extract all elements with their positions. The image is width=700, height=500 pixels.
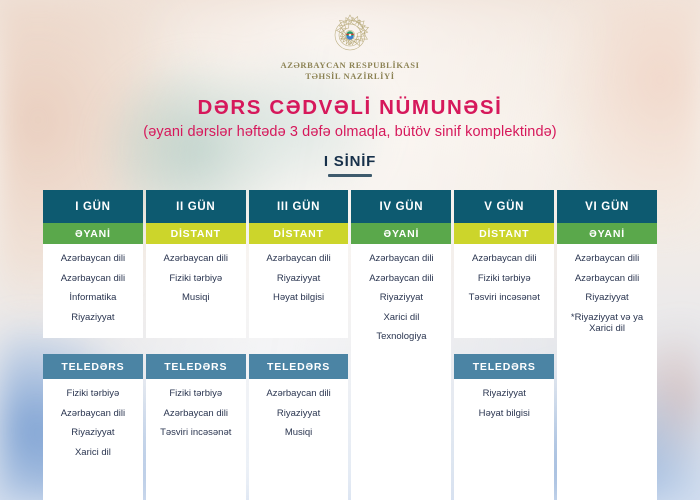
teledars-header: TELEDƏRS (249, 354, 349, 379)
lesson-item: Fiziki tərbiyə (169, 388, 222, 400)
schedule-column: III GÜNDİSTANTAzərbaycan diliRiyaziyyatH… (249, 190, 349, 500)
schedule-column: VI GÜNƏYANİAzərbaycan diliAzərbaycan dil… (557, 190, 657, 500)
teledars-header: TELEDƏRS (454, 354, 554, 379)
day-header: IV GÜN (351, 190, 451, 223)
lesson-item: Riyaziyyat (71, 312, 114, 324)
schedule-column: IV GÜNƏYANİAzərbaycan diliAzərbaycan dil… (351, 190, 451, 500)
schedule-table: I GÜNƏYANİAzərbaycan diliAzərbaycan dili… (43, 190, 657, 500)
column-body: Azərbaycan diliAzərbaycan diliRiyaziyyat… (557, 244, 657, 500)
poster-header: AZƏRBAYCAN RESPUBLİKASI TƏHSİL NAZİRLİYİ… (0, 12, 700, 177)
schedule-poster: AZƏRBAYCAN RESPUBLİKASI TƏHSİL NAZİRLİYİ… (0, 0, 700, 500)
lesson-list-teledars: Fiziki tərbiyəAzərbaycan diliTəsviri inc… (146, 379, 246, 500)
lesson-list-teledars: Azərbaycan diliRiyaziyyatMusiqi (249, 379, 349, 500)
lesson-item: Həyat bilgisi (273, 292, 324, 304)
section-gap (146, 338, 246, 354)
empty-cell (351, 352, 451, 500)
lesson-item: Xarici dil (383, 312, 419, 324)
lesson-item: Azərbaycan dili (266, 253, 330, 265)
teledars-header: TELEDƏRS (146, 354, 246, 379)
day-header: VI GÜN (557, 190, 657, 223)
lesson-item: Azərbaycan dili (575, 253, 639, 265)
column-body: Azərbaycan diliAzərbaycan diliİnformatik… (43, 244, 143, 500)
lesson-item: Riyaziyyat (71, 427, 114, 439)
mode-badge: DİSTANT (146, 223, 246, 244)
lesson-item: Riyaziyyat (483, 388, 526, 400)
day-header: I GÜN (43, 190, 143, 223)
column-body: Azərbaycan diliFiziki tərbiyəMusiqiTELED… (146, 244, 246, 500)
mode-badge: ƏYANİ (557, 223, 657, 244)
lesson-list-teledars: Fiziki tərbiyəAzərbaycan diliRiyaziyyatX… (43, 379, 143, 500)
lesson-item: Azərbaycan dili (164, 253, 228, 265)
lesson-item: Fiziki tərbiyə (169, 273, 222, 285)
ministry-line-1: AZƏRBAYCAN RESPUBLİKASI (0, 60, 700, 71)
lesson-list-primary: Azərbaycan diliFiziki tərbiyəMusiqi (146, 244, 246, 338)
section-gap (249, 338, 349, 354)
lesson-item: Riyaziyyat (277, 273, 320, 285)
schedule-column: V GÜNDİSTANTAzərbaycan diliFiziki tərbiy… (454, 190, 554, 500)
lesson-item: Təsviri incəsənət (469, 292, 540, 304)
lesson-item: Azərbaycan dili (369, 253, 433, 265)
grade-underline (328, 174, 372, 177)
section-gap (454, 338, 554, 354)
lesson-item: Musiqi (285, 427, 312, 439)
mode-badge: ƏYANİ (43, 223, 143, 244)
lesson-list-teledars: RiyaziyyatHəyat bilgisi (454, 379, 554, 500)
ministry-name: AZƏRBAYCAN RESPUBLİKASI TƏHSİL NAZİRLİYİ (0, 60, 700, 82)
lesson-list-primary: Azərbaycan diliAzərbaycan diliRiyaziyyat… (557, 244, 657, 344)
column-body: Azərbaycan diliAzərbaycan diliRiyaziyyat… (351, 244, 451, 500)
grade-block: I SİNİF (0, 153, 700, 177)
lesson-item: Azərbaycan dili (61, 253, 125, 265)
azerbaijan-education-ministry-emblem-icon (319, 12, 381, 58)
lesson-list-primary: Azərbaycan diliAzərbaycan diliİnformatik… (43, 244, 143, 338)
grade-label: I SİNİF (324, 153, 376, 170)
page-subtitle: (əyani dərslər həftədə 3 dəfə olmaqla, b… (0, 124, 700, 140)
schedule-column: I GÜNƏYANİAzərbaycan diliAzərbaycan dili… (43, 190, 143, 500)
lesson-item: Azərbaycan dili (61, 408, 125, 420)
lesson-item: Riyaziyyat (277, 408, 320, 420)
mode-badge: DİSTANT (249, 223, 349, 244)
section-gap (43, 338, 143, 354)
lesson-item: Riyaziyyat (585, 292, 628, 304)
lesson-item: Musiqi (182, 292, 209, 304)
lesson-list-primary: Azərbaycan diliRiyaziyyatHəyat bilgisi (249, 244, 349, 338)
lesson-item: Fiziki tərbiyə (67, 388, 120, 400)
lesson-item: Azərbaycan dili (164, 408, 228, 420)
lesson-list-primary: Azərbaycan diliAzərbaycan diliRiyaziyyat… (351, 244, 451, 352)
lesson-item: Xarici dil (75, 447, 111, 459)
empty-cell (557, 344, 657, 500)
day-header: II GÜN (146, 190, 246, 223)
ministry-line-2: TƏHSİL NAZİRLİYİ (0, 71, 700, 82)
lesson-item: Həyat bilgisi (479, 408, 530, 420)
day-header: III GÜN (249, 190, 349, 223)
mode-badge: DİSTANT (454, 223, 554, 244)
lesson-item: Azərbaycan dili (472, 253, 536, 265)
lesson-item: Azərbaycan dili (575, 273, 639, 285)
day-header: V GÜN (454, 190, 554, 223)
lesson-item: Azərbaycan dili (369, 273, 433, 285)
column-body: Azərbaycan diliFiziki tərbiyəTəsviri inc… (454, 244, 554, 500)
lesson-item: Riyaziyyat (380, 292, 423, 304)
mode-badge: ƏYANİ (351, 223, 451, 244)
lesson-item: Təsviri incəsənət (160, 427, 231, 439)
teledars-header: TELEDƏRS (43, 354, 143, 379)
lesson-item: İnformatika (69, 292, 116, 304)
lesson-list-primary: Azərbaycan diliFiziki tərbiyəTəsviri inc… (454, 244, 554, 338)
lesson-item: Azərbaycan dili (61, 273, 125, 285)
page-title: DƏRS CƏDVƏLİ NÜMUNƏSİ (0, 96, 700, 120)
lesson-item: Fiziki tərbiyə (478, 273, 531, 285)
lesson-item: Texnologiya (376, 331, 426, 343)
lesson-item: Azərbaycan dili (266, 388, 330, 400)
schedule-column: II GÜNDİSTANTAzərbaycan diliFiziki tərbi… (146, 190, 246, 500)
column-body: Azərbaycan diliRiyaziyyatHəyat bilgisiTE… (249, 244, 349, 500)
lesson-item: *Riyaziyyat və ya Xarici dil (571, 312, 643, 335)
